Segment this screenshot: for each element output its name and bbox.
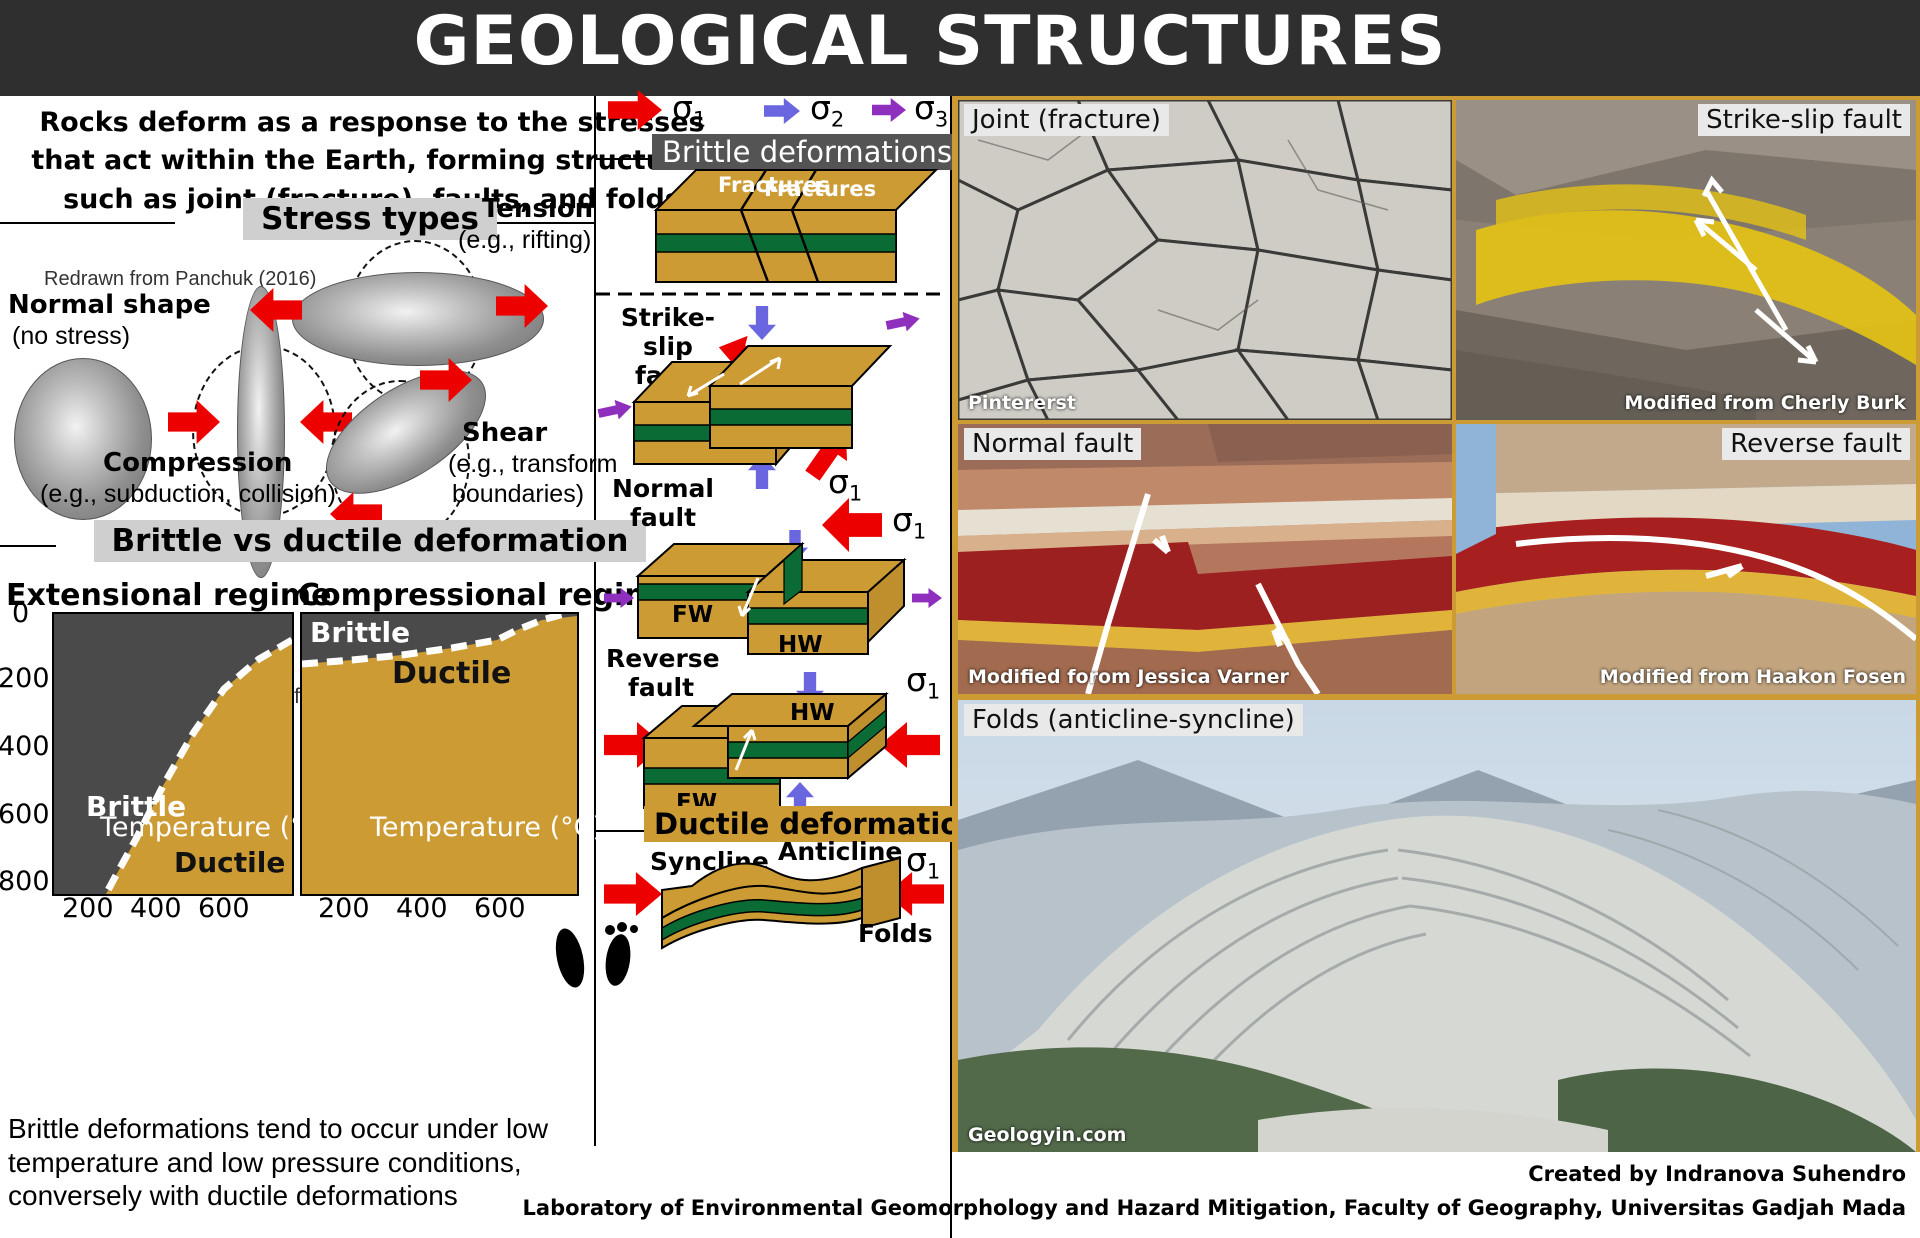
sigma3-legend-label: σ3: [914, 88, 948, 132]
caption-strike-slip-fault: Strike-slip fault: [1698, 104, 1910, 136]
tension-label: Tension: [482, 194, 593, 224]
panel-title-extensional: Extensional regime: [6, 578, 331, 613]
label-ductile-extensional: Ductile: [174, 846, 285, 879]
stress-credit: Redrawn from Panchuk (2016): [44, 268, 316, 291]
sigma3-glyph: σ: [914, 88, 935, 127]
normal-fault-image: [958, 424, 1452, 694]
folds-label: Folds: [858, 920, 933, 949]
joint-fracture-image: [958, 100, 1452, 420]
normal-fault-hw-label: HW: [778, 632, 823, 658]
caption-normal-fault: Normal fault: [964, 428, 1141, 460]
sigma2-legend-arrow: [764, 98, 800, 124]
credit-folds: Geologyin.com: [968, 1124, 1126, 1146]
stress-types-heading-wrap: Stress types: [0, 198, 740, 240]
shear-sublabel2: boundaries): [452, 480, 584, 509]
label-ductile-compressional: Ductile: [392, 656, 511, 691]
brittle-ductile-heading: Brittle vs ductile deformation: [94, 520, 647, 562]
sigma2-sub: 2: [831, 108, 844, 132]
normal-shape-sublabel: (no stress): [12, 322, 130, 351]
photo-normal-fault: Normal fault Modified forom Jessica Varn…: [958, 424, 1452, 694]
ytick-0: 0: [12, 598, 29, 629]
xtick-ext-200: 200: [62, 893, 114, 924]
reverse-fault-image: [1456, 424, 1916, 694]
xtick-com-600: 600: [474, 893, 526, 924]
ytick-800: 800: [0, 866, 50, 897]
sigma1-glyph: σ: [672, 88, 693, 127]
sigma2-legend-label: σ2: [810, 88, 844, 132]
fractures-text: Fractures: [718, 173, 830, 197]
nf-sigma-sub-a: 1: [849, 482, 862, 506]
photo-reverse-fault: Reverse fault Modified from Haakon Fosen: [1456, 424, 1916, 694]
credit-strike-slip-fault: Modified from Cherly Burk: [1624, 392, 1906, 414]
xtick-com-200: 200: [318, 893, 370, 924]
strike-slip-image: [1456, 100, 1916, 420]
normal-fault-fw-label: FW: [672, 602, 713, 628]
photo-joint-fracture: Joint (fracture) Pintererst: [958, 100, 1452, 420]
photo-strike-slip-fault: Strike-slip fault Modified from Cherly B…: [1456, 100, 1916, 420]
folds-image: [958, 700, 1916, 1152]
title-bar: GEOLOGICAL STRUCTURES: [0, 0, 1920, 96]
tension-sublabel: (e.g., rifting): [458, 226, 591, 255]
shear-label: Shear: [462, 418, 547, 448]
reverse-fault-hw-label: HW: [790, 700, 835, 726]
ytick-600: 600: [0, 799, 50, 830]
nf-sigma-glyph-a: σ: [828, 462, 849, 501]
xlabel-extensional: Temperature (°C): [100, 812, 333, 843]
chart-panel-extensional: Brittle Ductile: [52, 612, 294, 896]
caption-folds: Folds (anticline-syncline): [964, 704, 1303, 736]
compression-label: Compression: [103, 448, 292, 478]
credit-reverse-fault: Modified from Haakon Fosen: [1600, 666, 1906, 688]
chart-panel-compressional: Brittle Ductile: [300, 612, 579, 896]
compression-sublabel: (e.g., subduction, collision): [40, 480, 336, 509]
ytick-400: 400: [0, 731, 50, 762]
strike-slip-sigma2-arrow: [748, 306, 776, 340]
credit-joint-fracture: Pintererst: [968, 392, 1076, 414]
brittle-section-separator: [596, 292, 948, 296]
label-brittle-compressional: Brittle: [310, 616, 410, 649]
brittle-deformations-banner: Brittle deformations: [652, 134, 962, 170]
page-title: GEOLOGICAL STRUCTURES: [0, 2, 1920, 81]
brittle-banner-wrap: Brittle deformations: [652, 134, 962, 170]
caption-reverse-fault: Reverse fault: [1722, 428, 1910, 460]
credit-normal-fault: Modified forom Jessica Varner: [968, 666, 1289, 688]
sigma3-legend-arrow: [872, 98, 906, 122]
tension-ellipse: [292, 272, 544, 366]
normal-shape-label: Normal shape: [8, 290, 211, 320]
sigma2-glyph: σ: [810, 88, 831, 127]
ytick-200: 200: [0, 663, 50, 694]
sigma1-sub: 1: [693, 108, 706, 132]
photo-folds: Folds (anticline-syncline) Geologyin.com: [958, 700, 1916, 1152]
shear-sublabel: (e.g., transform: [448, 450, 618, 479]
ductile-banner-rule-left: [594, 830, 646, 832]
strike-slip-block-diagram: [628, 340, 948, 480]
strike-slip-sigma3-arrow-right: [884, 309, 921, 336]
xtick-com-400: 400: [396, 893, 448, 924]
footer-created-by: Created by Indranova Suhendro: [1528, 1162, 1906, 1186]
caption-joint-fracture: Joint (fracture): [964, 104, 1169, 136]
footer-lab: Laboratory of Environmental Geomorpholog…: [523, 1196, 1906, 1220]
sigma1-legend-label: σ1: [672, 88, 706, 132]
sigma3-sub: 3: [935, 108, 948, 132]
brittle-banner-rule: [594, 158, 654, 160]
normal-fault-sigma1-top: σ1: [828, 462, 862, 506]
xtick-ext-600: 600: [198, 893, 250, 924]
xtick-ext-400: 400: [130, 893, 182, 924]
footprint-icon: [548, 918, 658, 990]
xlabel-compressional: Temperature (°C): [370, 812, 603, 843]
fold-sigma-glyph: σ: [906, 840, 927, 879]
fold-sigma-sub: 1: [927, 860, 940, 884]
